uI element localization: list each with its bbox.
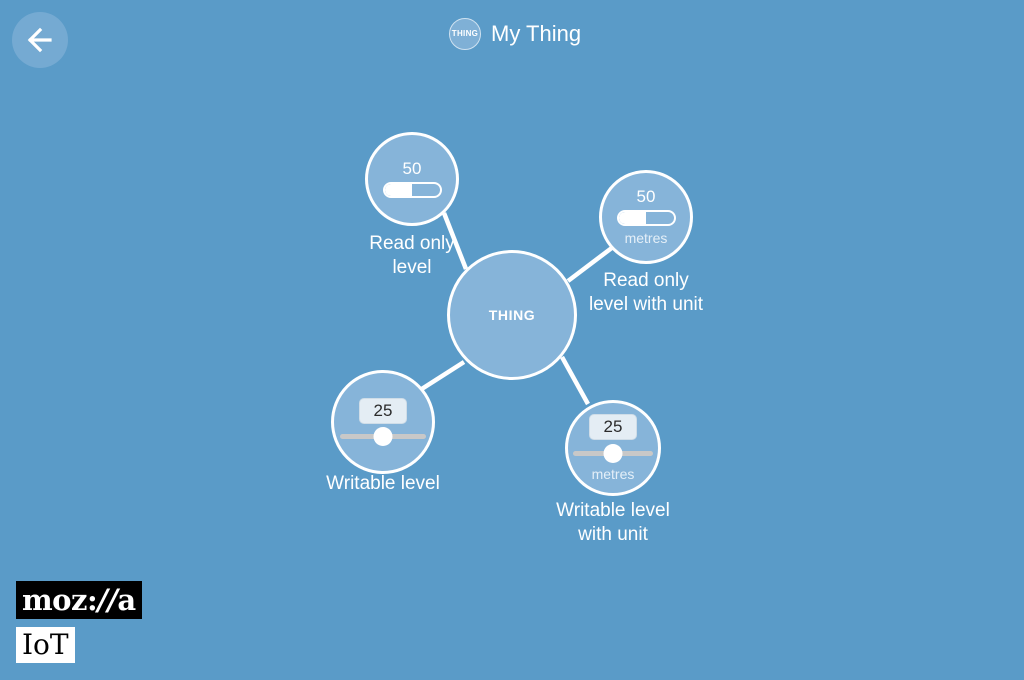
slider-thumb[interactable] [373, 427, 392, 446]
property-node-read-only-level[interactable]: 50 Read only level [365, 132, 459, 226]
thing-center-label: THING [489, 307, 536, 323]
writable-level-with-unit-label-line2: with unit [556, 523, 670, 547]
thing-graph: THING 50 Read only level 50 metres [0, 0, 1024, 680]
read-only-level-with-unit-label-line1: Read only [589, 269, 703, 293]
read-only-level-value: 50 [403, 160, 422, 178]
mozilla-iot-logo: moz://a IoT [16, 581, 142, 663]
thing-center-node[interactable]: THING [447, 250, 577, 380]
level-slider-widget-with-unit[interactable]: 25 metres [568, 414, 658, 482]
level-readonly-widget: 50 [383, 160, 442, 198]
level-bar-fill [619, 212, 647, 224]
writable-level-with-unit-circle[interactable]: 25 metres [565, 400, 661, 496]
read-only-level-circle[interactable]: 50 [365, 132, 459, 226]
property-node-writable-level[interactable]: 25 Writable level [331, 370, 435, 474]
read-only-level-label-line2: level [369, 256, 455, 280]
level-bar [383, 182, 442, 198]
thing-center-circle[interactable]: THING [447, 250, 577, 380]
mozilla-wordmark-suffix: a [117, 583, 135, 617]
read-only-level-with-unit-circle[interactable]: 50 metres [599, 170, 693, 264]
level-slider-widget[interactable]: 25 [334, 398, 432, 447]
level-readonly-widget-with-unit: 50 metres [617, 188, 676, 246]
read-only-level-with-unit-label: Read only level with unit [589, 269, 703, 317]
read-only-level-with-unit-unit: metres [625, 230, 668, 246]
level-bar [617, 210, 676, 226]
property-node-read-only-level-with-unit[interactable]: 50 metres Read only level with unit [599, 170, 693, 264]
read-only-level-with-unit-label-line2: level with unit [589, 293, 703, 317]
mozilla-wordmark-prefix: moz: [22, 583, 97, 617]
mozilla-wordmark: moz://a [16, 581, 142, 619]
read-only-level-label: Read only level [369, 232, 455, 280]
writable-level-value[interactable]: 25 [359, 398, 408, 424]
iot-wordmark: IoT [16, 627, 75, 663]
slider-thumb[interactable] [604, 444, 623, 463]
writable-level-label-line1: Writable level [326, 472, 440, 496]
writable-level-with-unit-value[interactable]: 25 [589, 414, 638, 440]
writable-level-slider[interactable] [340, 427, 426, 447]
read-only-level-label-line1: Read only [369, 232, 455, 256]
writable-level-with-unit-slider[interactable] [573, 443, 652, 463]
level-bar-fill [385, 184, 413, 196]
property-node-writable-level-with-unit[interactable]: 25 metres Writable level with unit [565, 400, 661, 496]
writable-level-with-unit-label: Writable level with unit [556, 499, 670, 547]
writable-level-with-unit-label-line1: Writable level [556, 499, 670, 523]
writable-level-circle[interactable]: 25 [331, 370, 435, 474]
writable-level-with-unit-unit: metres [592, 466, 635, 482]
read-only-level-with-unit-value: 50 [637, 188, 656, 206]
mozilla-wordmark-slashes: // [97, 583, 117, 617]
writable-level-label: Writable level [326, 472, 440, 496]
